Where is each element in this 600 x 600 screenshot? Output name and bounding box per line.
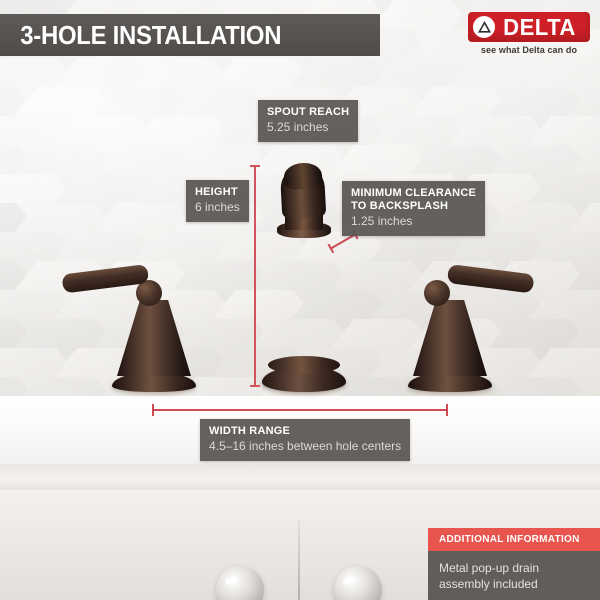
callout-clearance-title-line1: MINIMUM CLEARANCE bbox=[351, 187, 476, 200]
brand-tagline: see what Delta can do bbox=[468, 45, 590, 55]
countertop-edge bbox=[0, 464, 600, 490]
callout-height-title: HEIGHT bbox=[195, 186, 240, 199]
product-spec-image: SPOUT REACH 5.25 inches HEIGHT 6 inches … bbox=[0, 0, 600, 600]
callout-width-range-title: WIDTH RANGE bbox=[209, 425, 401, 438]
cabinet-seam bbox=[298, 520, 300, 600]
callout-height: HEIGHT 6 inches bbox=[186, 180, 249, 222]
callout-spout-reach-title: SPOUT REACH bbox=[267, 106, 349, 119]
additional-information-box: ADDITIONAL INFORMATION Metal pop-up drai… bbox=[428, 528, 600, 600]
callout-minimum-clearance: MINIMUM CLEARANCE TO BACKSPLASH 1.25 inc… bbox=[342, 181, 485, 236]
callout-clearance-value: 1.25 inches bbox=[351, 214, 476, 229]
delta-triangle-icon bbox=[473, 16, 495, 38]
header-bar: 3-HOLE INSTALLATION bbox=[0, 14, 380, 56]
width-range-measure-line bbox=[152, 409, 448, 411]
brand-name: DELTA bbox=[497, 12, 582, 42]
callout-height-value: 6 inches bbox=[195, 200, 240, 215]
callout-clearance-title-line2: TO BACKSPLASH bbox=[351, 200, 476, 213]
page-title: 3-HOLE INSTALLATION bbox=[0, 14, 350, 56]
additional-information-body: Metal pop-up drain assembly included bbox=[428, 551, 600, 600]
additional-information-heading: ADDITIONAL INFORMATION bbox=[428, 528, 600, 551]
logo-badge: DELTA bbox=[468, 12, 590, 42]
brand-logo: DELTA see what Delta can do bbox=[468, 12, 590, 55]
callout-spout-reach-value: 5.25 inches bbox=[267, 120, 349, 135]
callout-width-range-value: 4.5–16 inches between hole centers bbox=[209, 439, 401, 454]
callout-width-range: WIDTH RANGE 4.5–16 inches between hole c… bbox=[200, 419, 410, 461]
callout-spout-reach: SPOUT REACH 5.25 inches bbox=[258, 100, 358, 142]
height-measure-line bbox=[254, 165, 256, 387]
